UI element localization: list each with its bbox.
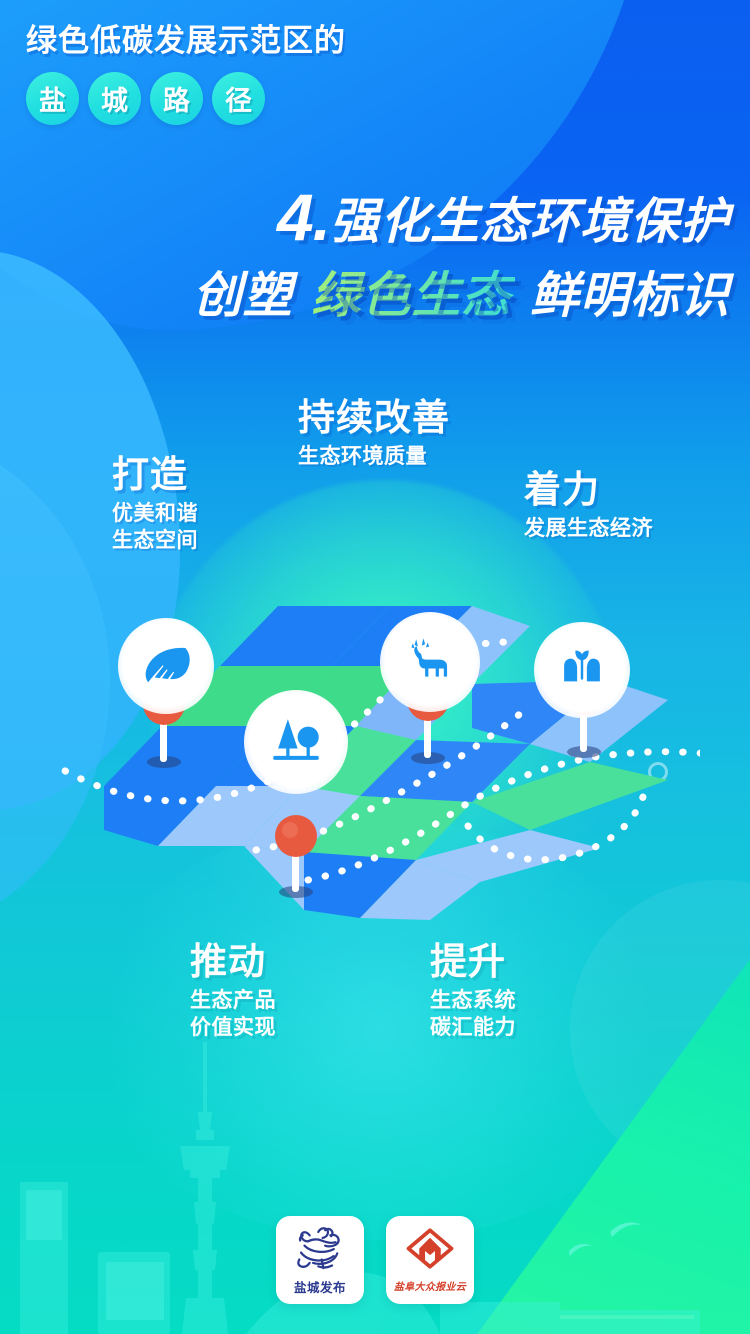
logo-yanfu-media[interactable]: 盐阜大众报业云 xyxy=(386,1216,474,1304)
callout-tuidong-sub2: 价值实现 xyxy=(190,1014,276,1041)
poster-root: 绿色低碳发展示范区的 盐 城 路 径 4. 强化生态环境保护 创塑 绿色生态 鲜… xyxy=(0,0,750,1334)
header-badge-3: 路 xyxy=(150,72,203,125)
callout-dazao: 打造 优美和谐 生态空间 xyxy=(112,455,198,554)
callout-tisheng: 提升 生态系统 碳汇能力 xyxy=(430,942,516,1041)
callout-chixu-sub1: 生态环境质量 xyxy=(298,443,450,470)
callout-dazao-sub2: 生态空间 xyxy=(112,527,198,554)
icon-bubble-deer xyxy=(380,612,480,712)
callout-tuidong-title: 推动 xyxy=(190,942,276,983)
main-title-line-1: 4. 强化生态环境保护 xyxy=(193,186,730,249)
callout-tuidong-sub1: 生态产品 xyxy=(190,987,276,1014)
leaf-icon xyxy=(140,640,192,692)
icon-bubble-sprout-hands xyxy=(534,622,630,718)
callout-zhuoli-sub1: 发展生态经济 xyxy=(524,515,653,542)
icon-bubble-leaf xyxy=(118,618,214,714)
callout-dazao-title: 打造 xyxy=(112,455,198,496)
callout-dazao-sub1: 优美和谐 xyxy=(112,500,198,527)
main-title-line-2-suffix: 鲜明标识 xyxy=(530,269,730,323)
logo-yancheng-fabu[interactable]: 盐城发布 xyxy=(276,1216,364,1304)
header-badge-2: 城 xyxy=(88,72,141,125)
logo-yancheng-fabu-caption: 盐城发布 xyxy=(294,1277,346,1296)
callout-tisheng-sub2: 碳汇能力 xyxy=(430,1014,516,1041)
header-badge-1: 盐 xyxy=(26,72,79,125)
footer-logos: 盐城发布 盐阜大众报业云 xyxy=(0,1216,750,1304)
sprout-hands-icon xyxy=(556,644,608,696)
header-subtitle: 绿色低碳发展示范区的 xyxy=(26,22,346,61)
callout-chixu-title: 持续改善 xyxy=(298,398,450,439)
crane-emblem-icon xyxy=(292,1225,348,1275)
callout-zhuoli-title: 着力 xyxy=(524,470,653,511)
callout-chixu: 持续改善 生态环境质量 xyxy=(298,398,450,470)
icon-bubble-park-trees xyxy=(244,690,348,794)
callout-tisheng-sub1: 生态系统 xyxy=(430,987,516,1014)
diamond-emblem-icon xyxy=(403,1227,457,1275)
header: 绿色低碳发展示范区的 盐 城 路 径 xyxy=(26,22,346,125)
deer-icon xyxy=(404,636,456,688)
main-title-line-2: 创塑 绿色生态 鲜明标识 xyxy=(193,256,730,327)
callout-tisheng-title: 提升 xyxy=(430,942,516,983)
callout-tuidong: 推动 生态产品 价值实现 xyxy=(190,942,276,1041)
header-badge-row: 盐 城 路 径 xyxy=(26,72,346,125)
main-title: 4. 强化生态环境保护 创塑 绿色生态 鲜明标识 xyxy=(193,186,730,327)
header-badge-4: 径 xyxy=(212,72,265,125)
main-title-line-2-prefix: 创塑 xyxy=(193,269,293,323)
main-title-number: 4. xyxy=(277,186,330,249)
main-title-highlight: 绿色生态 xyxy=(307,269,515,323)
main-title-text: 强化生态环境保护 xyxy=(330,197,730,249)
callout-zhuoli: 着力 发展生态经济 xyxy=(524,470,653,542)
logo-yanfu-media-caption: 盐阜大众报业云 xyxy=(394,1278,466,1293)
park-trees-icon xyxy=(270,716,322,768)
